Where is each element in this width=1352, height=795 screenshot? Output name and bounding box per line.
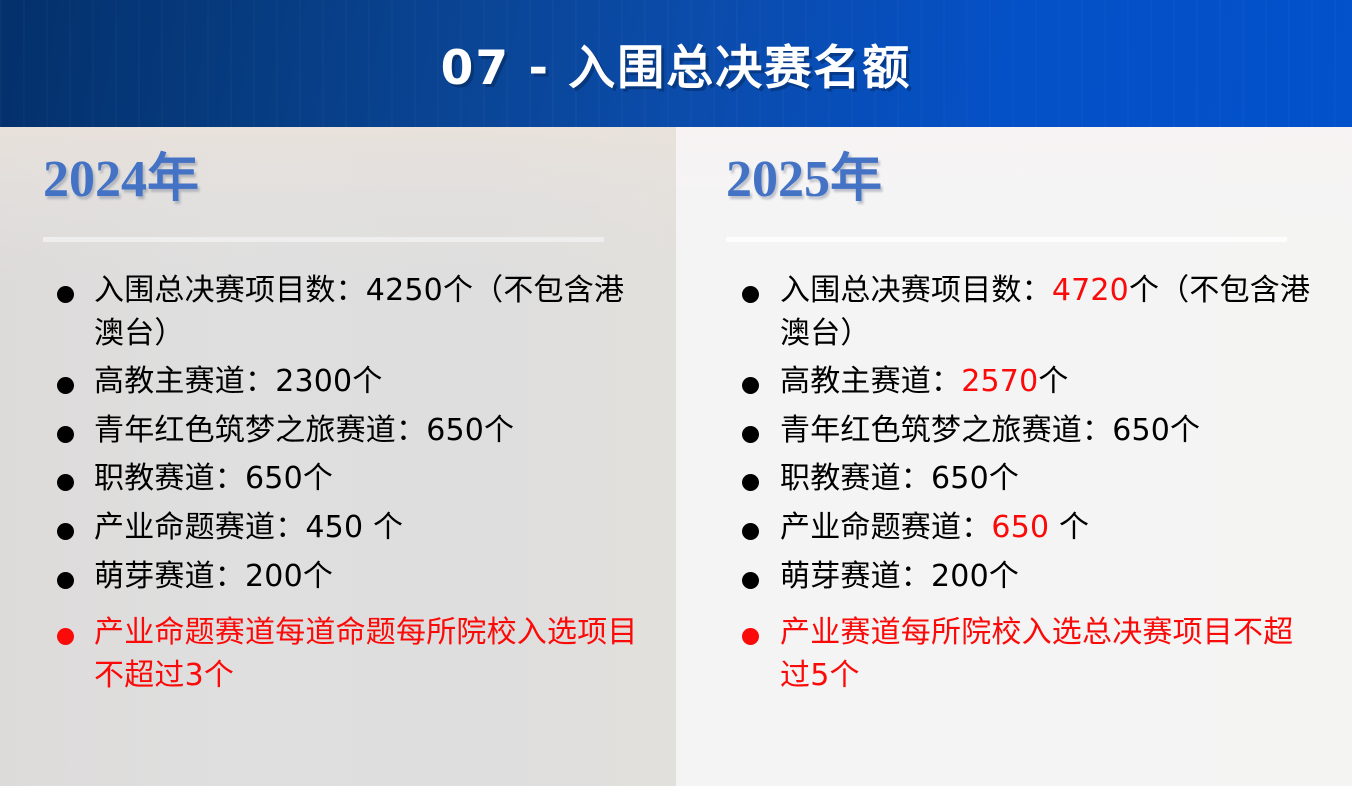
slide-bottom-strip: [0, 786, 1352, 795]
list-item-text: 入围总决赛项目数：: [780, 273, 1052, 308]
list-item-text-tail: 个: [1038, 364, 1068, 399]
list-item: 产业命题赛道：650 个: [726, 507, 1322, 550]
list-item-note: 产业赛道每所院校入选总决赛项目不超过5个: [726, 612, 1322, 697]
list-item: 职教赛道：650个: [726, 458, 1322, 501]
page-title: 07 - 入围总决赛名额: [0, 0, 1352, 127]
list-item: 萌芽赛道：200个: [43, 556, 646, 599]
bullet-dot-icon: [57, 426, 74, 443]
heading-divider-right: [726, 237, 1287, 242]
bullet-dot-icon: [742, 572, 759, 589]
column-heading-2025: 2025年: [726, 127, 1322, 206]
list-item-text: 青年红色筑梦之旅赛道：650个: [94, 413, 514, 448]
list-item-note: 产业命题赛道每道命题每所院校入选项目不超过3个: [43, 612, 646, 697]
list-item: 职教赛道：650个: [43, 458, 646, 501]
list-item-text-tail: 个: [1049, 510, 1089, 545]
bullet-dot-icon: [742, 628, 759, 645]
bullet-dot-icon: [742, 286, 759, 303]
comparison-panels: 2024年 入围总决赛项目数：4250个（不包含港澳台） 高教主赛道：2300个…: [0, 127, 1352, 786]
list-item: 产业命题赛道：450 个: [43, 507, 646, 550]
list-item: 入围总决赛项目数：4250个（不包含港澳台）: [43, 270, 646, 355]
highlight-value: 650: [991, 510, 1049, 545]
bullet-dot-icon: [57, 377, 74, 394]
bullet-list-2024: 入围总决赛项目数：4250个（不包含港澳台） 高教主赛道：2300个 青年红色筑…: [43, 270, 646, 697]
slide-header-banner: 07 - 入围总决赛名额: [0, 0, 1352, 127]
list-item-text: 青年红色筑梦之旅赛道：650个: [780, 413, 1200, 448]
note-text: 产业命题赛道每道命题每所院校入选项目不超过3个: [94, 615, 638, 693]
bullet-dot-icon: [742, 377, 759, 394]
list-item: 萌芽赛道：200个: [726, 556, 1322, 599]
column-year-2024: 2024年 入围总决赛项目数：4250个（不包含港澳台） 高教主赛道：2300个…: [0, 127, 676, 786]
list-item-text: 萌芽赛道：200个: [94, 559, 333, 594]
list-item: 青年红色筑梦之旅赛道：650个: [43, 410, 646, 453]
note-text: 产业赛道每所院校入选总决赛项目不超过5个: [780, 615, 1293, 693]
list-item-text: 职教赛道：650个: [94, 461, 333, 496]
highlight-value: 2570: [961, 364, 1038, 399]
bullet-dot-icon: [742, 474, 759, 491]
bullet-dot-icon: [57, 286, 74, 303]
bullet-dot-icon: [57, 523, 74, 540]
highlight-value: 4720: [1052, 273, 1129, 308]
slide-root: 07 - 入围总决赛名额 2024年 入围总决赛项目数：4250个（不包含港澳台…: [0, 0, 1352, 795]
list-item: 入围总决赛项目数：4720个（不包含港澳台）: [726, 270, 1322, 355]
bullet-dot-icon: [57, 474, 74, 491]
list-item-text: 产业命题赛道：450 个: [94, 510, 403, 545]
heading-divider-left: [43, 237, 604, 242]
bullet-list-2025: 入围总决赛项目数：4720个（不包含港澳台） 高教主赛道：2570个 青年红色筑…: [726, 270, 1322, 697]
bullet-dot-icon: [57, 572, 74, 589]
bullet-dot-icon: [742, 523, 759, 540]
list-item-text: 入围总决赛项目数：4250个（不包含港澳台）: [94, 273, 624, 351]
list-item: 高教主赛道：2570个: [726, 361, 1322, 404]
list-item-text: 高教主赛道：2300个: [94, 364, 383, 399]
column-year-2025: 2025年 入围总决赛项目数：4720个（不包含港澳台） 高教主赛道：2570个…: [676, 127, 1352, 786]
column-heading-2024: 2024年: [43, 127, 646, 206]
list-item-text: 职教赛道：650个: [780, 461, 1019, 496]
list-item: 高教主赛道：2300个: [43, 361, 646, 404]
list-item-text: 高教主赛道：: [780, 364, 961, 399]
list-item-text: 萌芽赛道：200个: [780, 559, 1019, 594]
list-item-text: 产业命题赛道：: [780, 510, 991, 545]
bullet-dot-icon: [57, 628, 74, 645]
list-item: 青年红色筑梦之旅赛道：650个: [726, 410, 1322, 453]
bullet-dot-icon: [742, 426, 759, 443]
